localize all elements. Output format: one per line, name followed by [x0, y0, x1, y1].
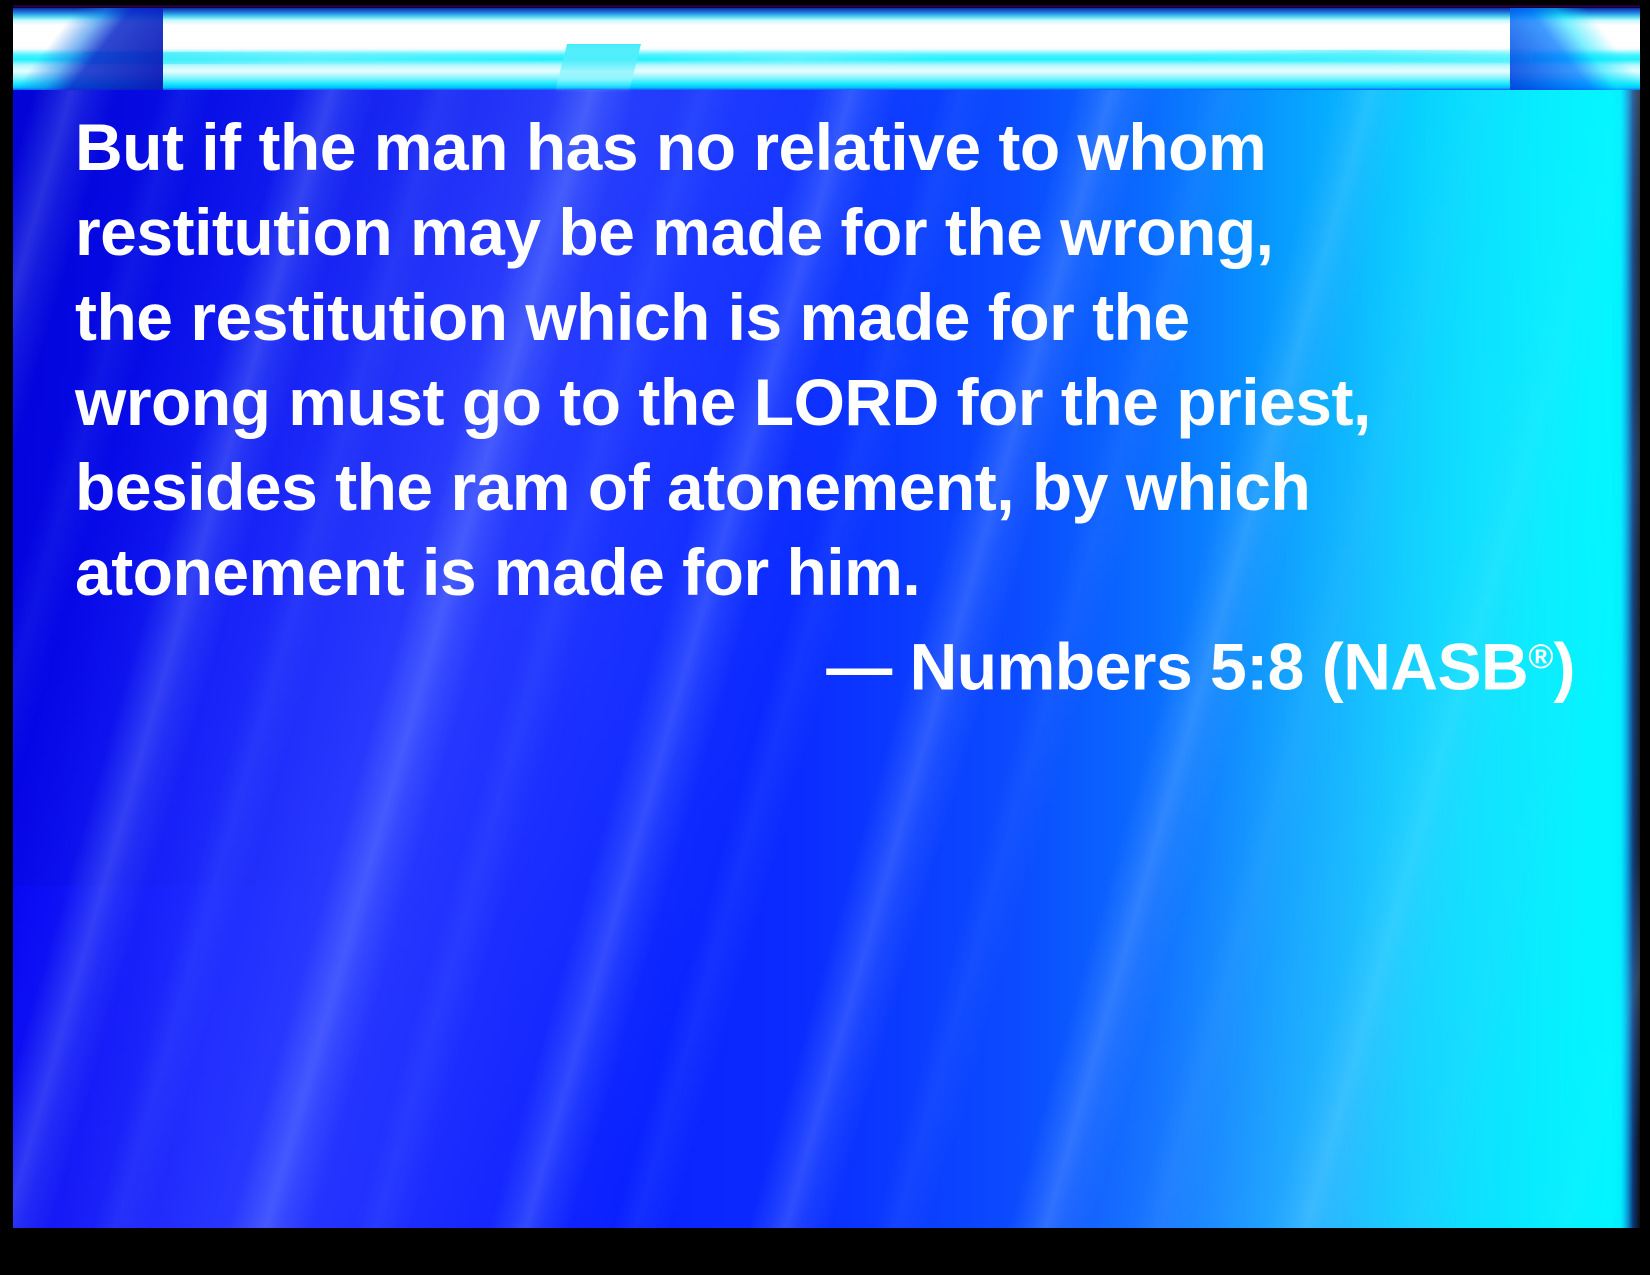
verse-line: atonement is made for him. — [75, 530, 1585, 615]
frame-border-right — [1640, 0, 1650, 1275]
verse-reference: — Numbers 5:8 (NASB®) — [75, 615, 1585, 709]
verse-reference-suffix: ) — [1554, 629, 1575, 703]
verse-line: the restitution which is made for the — [75, 275, 1585, 360]
frame-border-top — [0, 0, 1650, 8]
verse-line: But if the man has no relative to whom — [75, 105, 1585, 190]
verse-text-block: But if the man has no relative to whom r… — [75, 105, 1585, 615]
verse-line: besides the ram of atonement, by which — [75, 445, 1585, 530]
frame-border-left — [0, 0, 13, 1275]
verse-slide: But if the man has no relative to whom r… — [0, 0, 1650, 1275]
verse-line: restitution may be made for the wrong, — [75, 190, 1585, 275]
frame-border-bottom — [0, 1228, 1650, 1275]
verse-reference-prefix: — Numbers 5:8 (NASB — [826, 629, 1528, 703]
verse-line: wrong must go to the LORD for the priest… — [75, 360, 1585, 445]
registered-trademark-icon: ® — [1528, 638, 1553, 676]
